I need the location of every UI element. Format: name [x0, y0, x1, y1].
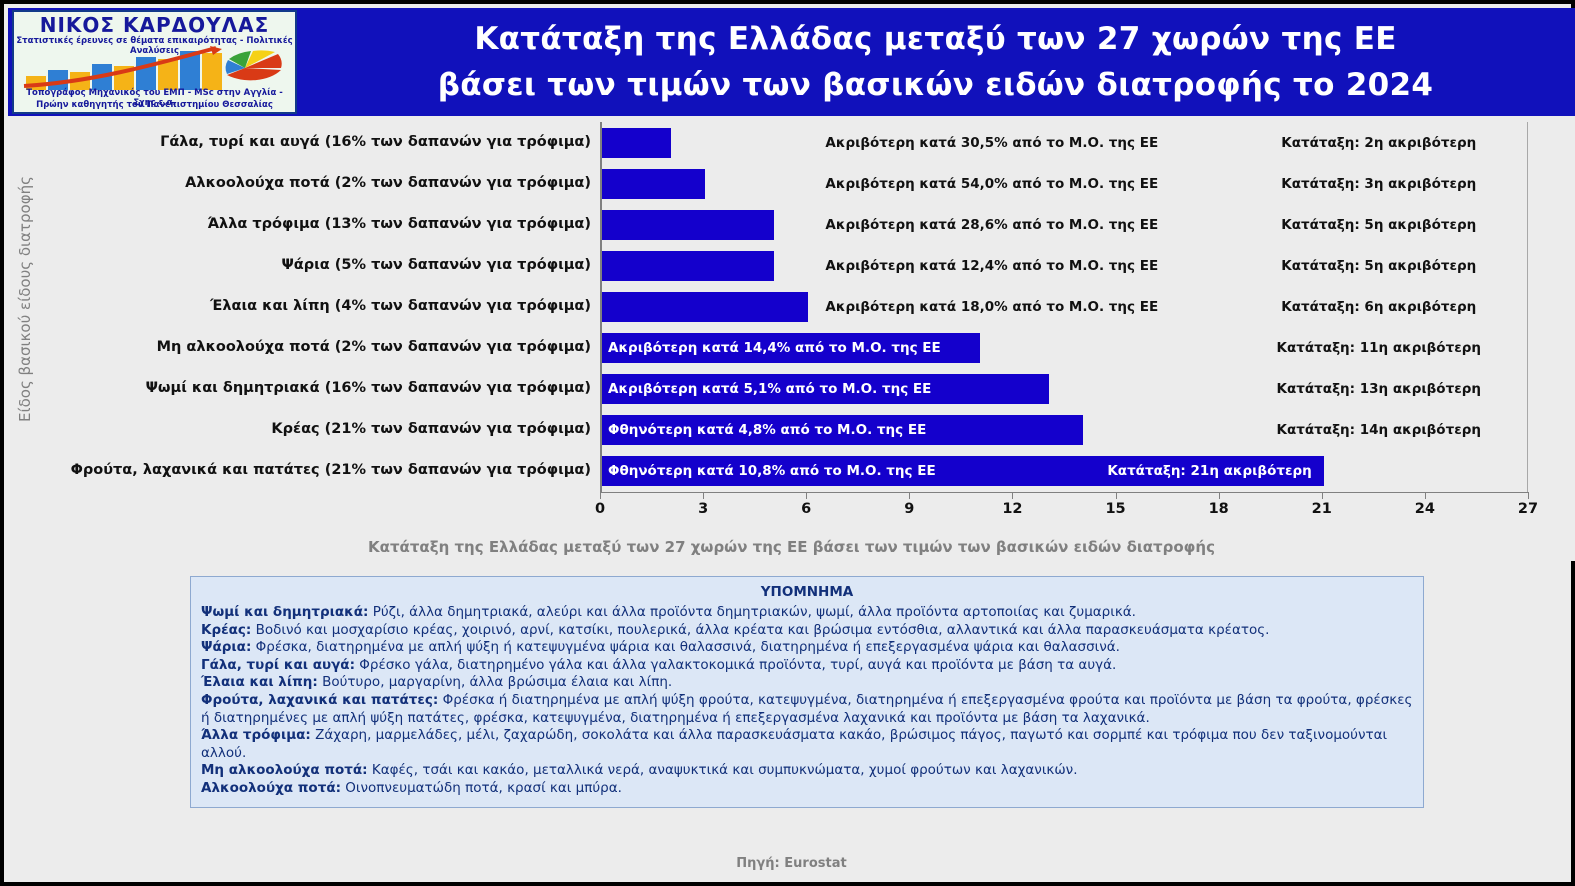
category-label: Αλκοολούχα ποτά (2% των δαπανών για τρόφ… [185, 175, 591, 191]
x-axis-tick-label: 15 [1105, 501, 1125, 517]
bar-value-label: Ακριβότερη κατά 28,6% από το Μ.Ο. της ΕΕ [825, 210, 1158, 240]
bar-rank-label: Κατάταξη: 13η ακριβότερη [1265, 374, 1492, 404]
bar-value-label: Ακριβότερη κατά 5,1% από το Μ.Ο. της ΕΕ [608, 374, 931, 404]
bar-rank-label: Κατάταξη: 21η ακριβότερη [1107, 456, 1311, 486]
x-axis-tick-label: 0 [595, 501, 605, 517]
x-axis-tick-label: 21 [1312, 501, 1332, 517]
x-axis: 0369121518212427 [600, 492, 1528, 493]
bar-value-label: Φθηνότερη κατά 4,8% από το Μ.Ο. της ΕΕ [608, 415, 926, 445]
legend-item-term: Άλλα τρόφιμα: [201, 727, 311, 743]
legend-item-text: Φρέσκα, διατηρημένα με απλή ψύξη ή κατεψ… [251, 639, 1120, 655]
x-axis-tick-label: 27 [1518, 501, 1538, 517]
x-axis-tick-label: 24 [1415, 501, 1435, 517]
bar-rank-label: Κατάταξη: 11η ακριβότερη [1265, 333, 1492, 363]
category-label: Ψάρια (5% των δαπανών για τρόφιμα) [281, 257, 591, 273]
x-axis-tick-label: 18 [1209, 501, 1229, 517]
legend-item: Ψωμί και δημητριακά: Ρύζι, άλλα δημητρια… [201, 604, 1413, 622]
legend-item: Φρούτα, λαχανικά και πατάτες: Φρέσκα ή δ… [201, 692, 1413, 727]
y-axis-title-text: Είδος βασικού είδους διατροφής [16, 134, 34, 464]
bar-value-label: Ακριβότερη κατά 12,4% από το Μ.Ο. της ΕΕ [825, 251, 1158, 281]
y-axis-category-labels: Γάλα, τυρί και αυγά (16% των δαπανών για… [64, 122, 597, 492]
x-axis-tick [1528, 492, 1529, 499]
legend-item: Μη αλκοολούχα ποτά: Καφές, τσάι και κακά… [201, 762, 1413, 780]
legend-item-term: Κρέας: [201, 622, 251, 638]
legend-item-text: Βοδινό και μοσχαρίσιο κρέας, χοιρινό, αρ… [251, 622, 1269, 638]
legend-item-term: Έλαια και λίπη: [201, 674, 318, 690]
x-axis-tick-label: 12 [1002, 501, 1022, 517]
x-axis-tick [909, 492, 910, 499]
legend-item: Αλκοολούχα ποτά: Οινοπνευματώδη ποτά, κρ… [201, 780, 1413, 798]
logo-chart-icon [20, 46, 293, 90]
x-axis-tick [600, 492, 601, 499]
category-label: Φρούτα, λαχανικά και πατάτες (21% των δα… [71, 462, 591, 478]
page-title: Κατάταξη της Ελλάδας μεταξύ των 27 χωρών… [303, 16, 1568, 108]
bar: Φθηνότερη κατά 10,8% από το Μ.Ο. της ΕΕΚ… [602, 456, 1324, 486]
header-banner: ΝΙΚΟΣ ΚΑΡΔΟΥΛΑΣ Στατιστικές έρευνες σε θ… [8, 8, 1575, 116]
x-axis-tick [1219, 492, 1220, 499]
bar: Ακριβότερη κατά 14,4% από το Μ.Ο. της ΕΕ [602, 333, 980, 363]
legend-item-term: Ψάρια: [201, 639, 251, 655]
category-label: Κρέας (21% των δαπανών για τρόφιμα) [271, 421, 591, 437]
bar-value-label: Ακριβότερη κατά 30,5% από το Μ.Ο. της ΕΕ [825, 128, 1158, 158]
slide-root: ΝΙΚΟΣ ΚΑΡΔΟΥΛΑΣ Στατιστικές έρευνες σε θ… [0, 0, 1575, 886]
legend-item: Ψάρια: Φρέσκα, διατηρημένα με απλή ψύξη … [201, 639, 1413, 657]
logo-footer-line-2: Πρώην καθηγητής του Πανεπιστημίου Θεσσαλ… [14, 100, 295, 110]
legend-item: Γάλα, τυρί και αυγά: Φρέσκο γάλα, διατηρ… [201, 657, 1413, 675]
page-title-line-1: Κατάταξη της Ελλάδας μεταξύ των 27 χωρών… [303, 16, 1568, 62]
bar-value-label: Ακριβότερη κατά 54,0% από το Μ.Ο. της ΕΕ [825, 169, 1158, 199]
bar-rank-label: Κατάταξη: 5η ακριβότερη [1265, 251, 1492, 281]
category-label: Άλλα τρόφιμα (13% των δαπανών για τρόφιμ… [208, 216, 592, 232]
x-axis-tick-label: 6 [801, 501, 811, 517]
x-axis-tick-label: 3 [698, 501, 708, 517]
bar-rank-label: Κατάταξη: 2η ακριβότερη [1265, 128, 1492, 158]
legend-item-text: Βούτυρο, μαργαρίνη, άλλα βρώσιμα έλαια κ… [318, 674, 672, 690]
legend-item-text: Φρέσκο γάλα, διατηρημένο γάλα και άλλα γ… [355, 657, 1116, 673]
category-label: Έλαια και λίπη (4% των δαπανών για τρόφι… [210, 298, 591, 314]
legend-item-text: Οινοπνευματώδη ποτά, κρασί και μπύρα. [341, 780, 622, 796]
x-axis-tick [806, 492, 807, 499]
legend-item-text: Καφές, τσάι και κακάο, μεταλλικά νερά, α… [368, 762, 1078, 778]
bar: Ακριβότερη κατά 5,1% από το Μ.Ο. της ΕΕ [602, 374, 1049, 404]
source-note: Πηγή: Eurostat [8, 856, 1575, 871]
category-label: Ψωμί και δημητριακά (16% των δαπανών για… [146, 380, 591, 396]
legend-item: Άλλα τρόφιμα: Ζάχαρη, μαρμελάδες, μέλι, … [201, 727, 1413, 762]
x-axis-tick [1012, 492, 1013, 499]
bar-value-label: Ακριβότερη κατά 14,4% από το Μ.Ο. της ΕΕ [608, 333, 941, 363]
bar [602, 169, 705, 199]
category-label: Μη αλκοολούχα ποτά (2% των δαπανών για τ… [157, 339, 591, 355]
category-label: Γάλα, τυρί και αυγά (16% των δαπανών για… [160, 134, 591, 150]
logo-name: ΝΙΚΟΣ ΚΑΡΔΟΥΛΑΣ [14, 13, 295, 37]
x-axis-tick [1116, 492, 1117, 499]
legend-item-term: Αλκοολούχα ποτά: [201, 780, 341, 796]
bar [602, 128, 671, 158]
bar: Φθηνότερη κατά 4,8% από το Μ.Ο. της ΕΕ [602, 415, 1083, 445]
legend-list: Ψωμί και δημητριακά: Ρύζι, άλλα δημητρια… [201, 604, 1413, 798]
x-axis-tick [1322, 492, 1323, 499]
legend-item-text: Ρύζι, άλλα δημητριακά, αλεύρι και άλλα π… [368, 604, 1136, 620]
legend-item-term: Μη αλκοολούχα ποτά: [201, 762, 368, 778]
bar-rank-label: Κατάταξη: 14η ακριβότερη [1265, 415, 1492, 445]
bar [602, 292, 808, 322]
legend-item-term: Ψωμί και δημητριακά: [201, 604, 368, 620]
y-axis-title: Είδος βασικού είδους διατροφής [16, 134, 42, 152]
legend-title: ΥΠΟΜΝΗΜΑ [201, 584, 1413, 600]
bar-rank-label: Κατάταξη: 5η ακριβότερη [1265, 210, 1492, 240]
legend-item-term: Γάλα, τυρί και αυγά: [201, 657, 355, 673]
plot-area: Ακριβότερη κατά 30,5% από το Μ.Ο. της ΕΕ… [600, 122, 1528, 492]
bar-rank-label: Κατάταξη: 6η ακριβότερη [1265, 292, 1492, 322]
x-axis-title: Κατάταξη της Ελλάδας μεταξύ των 27 χωρών… [8, 538, 1575, 556]
legend-item: Έλαια και λίπη: Βούτυρο, μαργαρίνη, άλλα… [201, 674, 1413, 692]
legend-item: Κρέας: Βοδινό και μοσχαρίσιο κρέας, χοιρ… [201, 622, 1413, 640]
bar [602, 251, 774, 281]
legend-item-text: Ζάχαρη, μαρμελάδες, μέλι, ζαχαρώδη, σοκο… [201, 727, 1387, 761]
page-title-line-2: βάσει των τιμών των βασικών ειδών διατρο… [303, 62, 1568, 108]
logo-block: ΝΙΚΟΣ ΚΑΡΔΟΥΛΑΣ Στατιστικές έρευνες σε θ… [12, 10, 297, 114]
bar [602, 210, 774, 240]
x-axis-tick [1425, 492, 1426, 499]
bar-value-label: Ακριβότερη κατά 18,0% από το Μ.Ο. της ΕΕ [825, 292, 1158, 322]
bar-value-label: Φθηνότερη κατά 10,8% από το Μ.Ο. της ΕΕ [608, 456, 936, 486]
legend-item-term: Φρούτα, λαχανικά και πατάτες: [201, 692, 438, 708]
x-axis-tick [703, 492, 704, 499]
legend-box: ΥΠΟΜΝΗΜΑ Ψωμί και δημητριακά: Ρύζι, άλλα… [190, 576, 1424, 808]
bar-rank-label: Κατάταξη: 3η ακριβότερη [1265, 169, 1492, 199]
x-axis-tick-label: 9 [904, 501, 914, 517]
